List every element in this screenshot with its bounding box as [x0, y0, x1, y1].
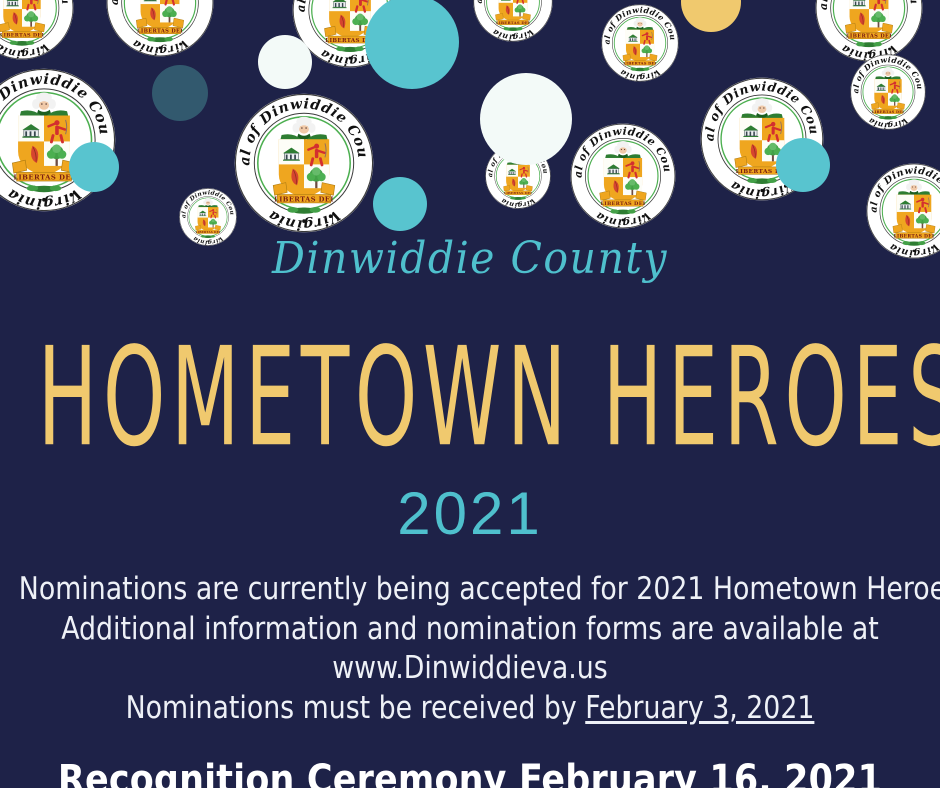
seal-badge: Seal of Dinwiddie County Virginia: [106, 0, 214, 57]
svg-text:Virginia: Virginia: [265, 206, 343, 232]
deadline-prefix: Nominations must be received by: [126, 690, 586, 726]
svg-text:LIBERTAS DEI: LIBERTAS DEI: [196, 230, 221, 234]
seal-badge: Seal of Dinwiddie County Virginia: [850, 54, 926, 130]
svg-text:Seal of Dinwiddie County: Seal of Dinwiddie County: [292, 0, 406, 12]
website-url: www.Dinwiddieva.us: [19, 649, 921, 689]
svg-text:LIBERTAS DEI: LIBERTAS DEI: [274, 196, 334, 204]
svg-text:Virginia: Virginia: [499, 196, 536, 209]
svg-text:Virginia: Virginia: [839, 42, 900, 62]
svg-text:Seal of Dinwiddie County: Seal of Dinwiddie County: [0, 68, 113, 143]
svg-text:Seal of Dinwiddie County: Seal of Dinwiddie County: [106, 0, 212, 5]
svg-text:LIBERTAS DEI: LIBERTAS DEI: [736, 168, 789, 175]
svg-text:Virginia: Virginia: [0, 40, 51, 60]
svg-text:Seal of Dinwiddie County: Seal of Dinwiddie County: [473, 0, 552, 4]
seal-badge: Seal of Dinwiddie County Virginia: [0, 68, 116, 212]
svg-text:Virginia: Virginia: [618, 67, 662, 82]
seal-badge: Seal of Dinwiddie County Virginia: [700, 77, 824, 201]
poster-content: Dinwiddie County HOMETOWN HEROES 2021 No…: [0, 238, 940, 788]
county-script-title: Dinwiddie County: [0, 236, 940, 282]
seal-badge: Seal of Dinwiddie County Virginia: [473, 0, 553, 42]
svg-text:Seal of Dinwiddie County: Seal of Dinwiddie County: [485, 143, 550, 177]
hometown-heroes-poster: Seal of Dinwiddie County Virginia: [0, 0, 940, 788]
svg-text:LIBERTAS DEI: LIBERTAS DEI: [13, 174, 74, 182]
teal-circle: [776, 138, 830, 192]
svg-text:LIBERTAS DEI: LIBERTAS DEI: [325, 38, 374, 44]
svg-text:Seal of Dinwiddie County: Seal of Dinwiddie County: [234, 93, 371, 166]
svg-text:LIBERTAS DEI: LIBERTAS DEI: [496, 20, 530, 25]
svg-text:Seal of Dinwiddie County: Seal of Dinwiddie County: [866, 163, 940, 213]
svg-text:Virginia: Virginia: [317, 46, 383, 68]
teal-circle: [373, 177, 427, 231]
body-line-2: Additional information and nomination fo…: [19, 610, 921, 650]
seal-badge: Seal of Dinwiddie County Virginia: [601, 4, 679, 82]
body-copy: Nominations are currently being accepted…: [19, 544, 921, 728]
svg-text:Seal of Dinwiddie County: Seal of Dinwiddie County: [601, 4, 677, 45]
svg-text:LIBERTAS DEI: LIBERTAS DEI: [504, 191, 532, 195]
slate-circle: [152, 65, 208, 121]
seal-badge: Seal of Dinwiddie County Virginia: [292, 0, 408, 68]
white-circle: [480, 73, 572, 165]
page-title: HOMETOWN HEROES: [38, 281, 903, 466]
svg-text:Virginia: Virginia: [867, 116, 910, 130]
seal-badge: Seal of Dinwiddie County Virginia: [0, 0, 74, 60]
teal-circle: [69, 142, 119, 192]
svg-text:LIBERTAS DEI: LIBERTAS DEI: [623, 61, 656, 65]
deadline-date: February 3, 2021: [585, 690, 814, 726]
svg-text:Seal of Dinwiddie County: Seal of Dinwiddie County: [700, 77, 822, 141]
svg-text:Virginia: Virginia: [130, 37, 191, 57]
seal-badge: Seal of Dinwiddie County Virginia: [234, 93, 374, 233]
svg-text:LIBERTAS DEI: LIBERTAS DEI: [872, 110, 905, 114]
svg-text:Virginia: Virginia: [490, 27, 536, 42]
svg-text:Virginia: Virginia: [4, 185, 85, 212]
svg-text:Seal of Dinwiddie County: Seal of Dinwiddie County: [570, 123, 673, 178]
svg-text:Seal of Dinwiddie County: Seal of Dinwiddie County: [850, 54, 925, 94]
white-circle: [258, 35, 312, 89]
svg-text:Virginia: Virginia: [594, 209, 653, 229]
svg-text:LIBERTAS DEI: LIBERTAS DEI: [600, 201, 645, 207]
body-line-1: Nominations are currently being accepted…: [19, 570, 921, 610]
svg-text:LIBERTAS DEI: LIBERTAS DEI: [846, 34, 892, 40]
svg-text:Seal of Dinwiddie County: Seal of Dinwiddie County: [179, 188, 235, 218]
svg-text:LIBERTAS DEI: LIBERTAS DEI: [0, 33, 44, 39]
seal-badge: Seal of Dinwiddie County Virginia: [570, 123, 676, 229]
teal-circle: [365, 0, 459, 89]
svg-text:LIBERTAS DEI: LIBERTAS DEI: [137, 29, 183, 35]
gold-circle: [681, 0, 741, 32]
svg-text:Virginia: Virginia: [727, 178, 797, 201]
body-line-4: Nominations must be received by February…: [19, 689, 921, 729]
seal-badge: Seal of Dinwiddie County Virginia: [485, 143, 551, 209]
svg-text:Seal of Dinwiddie County: Seal of Dinwiddie County: [815, 0, 921, 10]
svg-text:Seal of Dinwiddie County: Seal of Dinwiddie County: [0, 0, 72, 10]
seal-badge: Seal of Dinwiddie County Virginia: [815, 0, 923, 62]
ceremony-line: Recognition Ceremony February 16, 2021: [14, 728, 926, 788]
